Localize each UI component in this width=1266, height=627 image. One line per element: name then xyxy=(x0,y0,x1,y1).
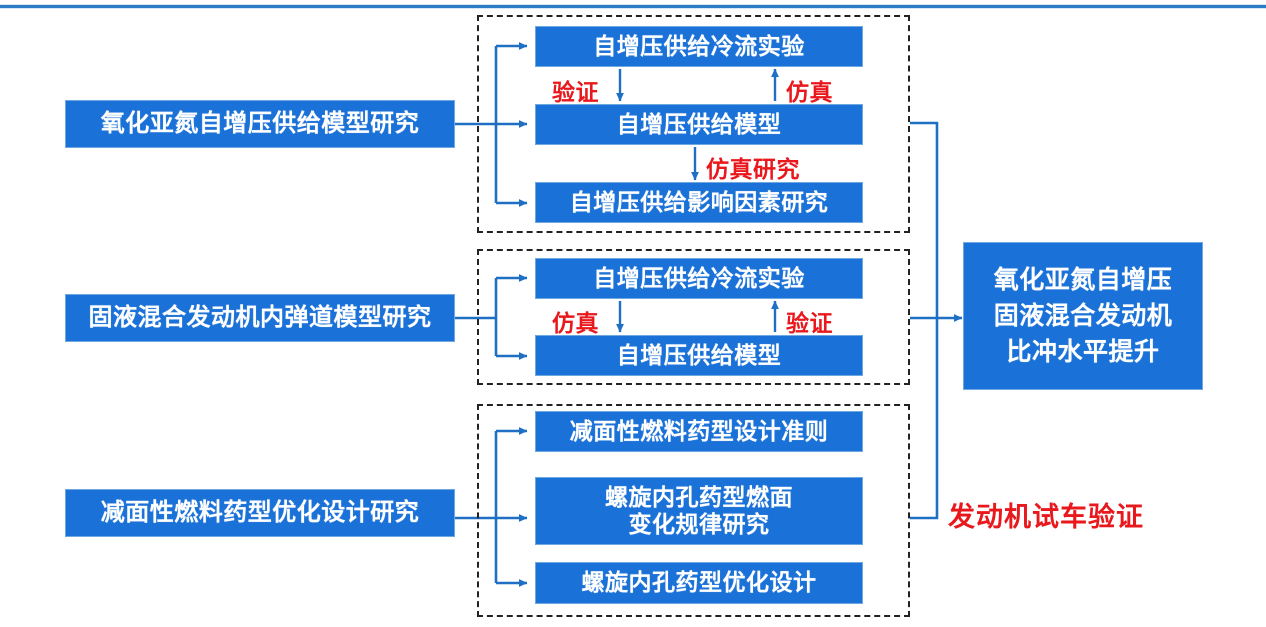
group1-box-2-label: 自增压供给模型 xyxy=(617,111,782,138)
theme-box-3-label: 减面性燃料药型优化设计研究 xyxy=(101,499,420,527)
goal-line-1: 氧化亚氮自增压 xyxy=(994,262,1173,298)
group2-label-simulation: 仿真 xyxy=(552,304,599,338)
group2-box-cold-flow-test[interactable]: 自增压供给冷流实验 xyxy=(535,258,863,299)
group1-label-simulation: 仿真 xyxy=(786,73,833,107)
theme-box-1-label: 氧化亚氮自增压供给模型研究 xyxy=(101,110,420,138)
group3-box-2-label: 螺旋内孔药型燃面 变化规律研究 xyxy=(605,484,793,538)
group2-box-supply-model[interactable]: 自增压供给模型 xyxy=(535,335,863,376)
group2-box-2-label: 自增压供给模型 xyxy=(617,342,782,369)
theme-box-2-label: 固液混合发动机内弹道模型研究 xyxy=(89,304,432,332)
group1-box-cold-flow-test[interactable]: 自增压供给冷流实验 xyxy=(535,26,863,67)
theme-box-1[interactable]: 氧化亚氮自增压供给模型研究 xyxy=(65,100,455,148)
group1-label-simulation-study: 仿真研究 xyxy=(706,150,800,184)
group2-label-verification: 验证 xyxy=(786,304,833,338)
group3-box-3-label: 螺旋内孔药型优化设计 xyxy=(582,569,817,596)
group1-label-verification: 验证 xyxy=(552,73,599,107)
group1-box-influence-factors[interactable]: 自增压供给影响因素研究 xyxy=(535,182,863,223)
diagram-canvas: 氧化亚氮自增压供给模型研究 固液混合发动机内弹道模型研究 减面性燃料药型优化设计… xyxy=(0,0,1266,627)
goal-line-3: 比冲水平提升 xyxy=(1006,334,1159,370)
top-divider-rule xyxy=(0,4,1266,9)
goal-line-2: 固液混合发动机 xyxy=(994,298,1173,334)
group2-box-1-label: 自增压供给冷流实验 xyxy=(593,265,805,292)
theme-box-3[interactable]: 减面性燃料药型优化设计研究 xyxy=(65,489,455,537)
theme-box-2[interactable]: 固液混合发动机内弹道模型研究 xyxy=(65,294,455,342)
group3-box-spiral-optimization[interactable]: 螺旋内孔药型优化设计 xyxy=(535,562,863,604)
group3-box-1-label: 减面性燃料药型设计准则 xyxy=(570,418,829,445)
engine-hot-fire-callout: 发动机试车验证 xyxy=(948,495,1144,534)
group3-box-design-criteria[interactable]: 减面性燃料药型设计准则 xyxy=(535,411,863,452)
group1-box-1-label: 自增压供给冷流实验 xyxy=(593,33,805,60)
group1-box-3-label: 自增压供给影响因素研究 xyxy=(570,189,829,216)
group1-box-supply-model[interactable]: 自增压供给模型 xyxy=(535,104,863,145)
goal-box[interactable]: 氧化亚氮自增压 固液混合发动机 比冲水平提升 xyxy=(963,242,1203,390)
group3-box-burning-surface-study[interactable]: 螺旋内孔药型燃面 变化规律研究 xyxy=(535,477,863,545)
